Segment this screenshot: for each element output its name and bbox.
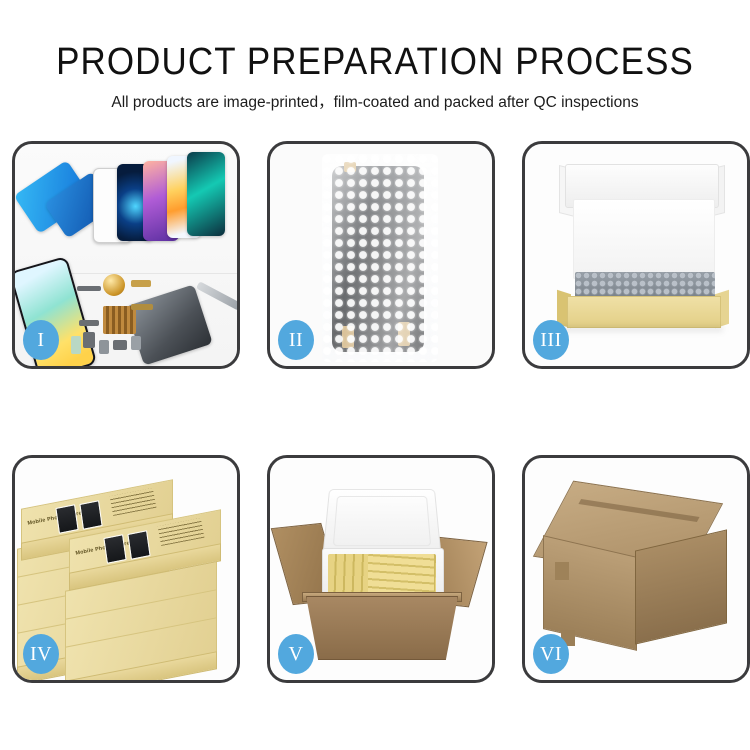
connector-chip-grid (103, 306, 136, 334)
process-step-panel-5[interactable]: V (267, 455, 495, 683)
step-badge-1: I (23, 320, 59, 360)
process-step-panel-4[interactable]: Mobile Phone Spare Parts Mobile Phone Sp… (12, 455, 240, 683)
process-step-panel-1[interactable]: I (12, 141, 240, 369)
step-badge-5: V (278, 634, 314, 674)
carton-body (306, 596, 458, 660)
part-connector (71, 336, 81, 354)
process-step-panel-2[interactable]: II (267, 141, 495, 369)
retail-box-screen-image-back-1 (55, 504, 78, 534)
process-step-panel-3[interactable]: III (522, 141, 750, 369)
retail-box-screen-image-back-2 (79, 500, 102, 530)
process-step-grid: I II III (12, 141, 738, 683)
retail-box-screen-image-front-1 (103, 534, 126, 564)
drop-shadow (563, 326, 723, 332)
part-flex-strip (131, 304, 153, 310)
phone-teal-display (187, 152, 225, 236)
foam-sheet (573, 199, 715, 279)
part-sim-tray (131, 336, 141, 350)
part-cable (83, 332, 95, 348)
foam-box-lid (323, 489, 442, 555)
step-badge-6: VI (533, 634, 569, 674)
page-header: PRODUCT PREPARATION PROCESS All products… (0, 0, 750, 112)
box-front-panel (567, 296, 721, 328)
part-speaker (77, 286, 101, 291)
carton-tape-upper (555, 562, 569, 580)
gold-component (103, 274, 125, 296)
process-step-panel-6[interactable]: VI (522, 455, 750, 683)
step-badge-4: IV (23, 634, 59, 674)
step-badge-3: III (533, 320, 569, 360)
page-subtitle: All products are image-printed，film-coat… (0, 82, 750, 112)
part-gold-flex (131, 280, 151, 287)
retail-box-screen-image-front-2 (127, 530, 150, 560)
part-button (99, 340, 109, 354)
part-bracket (79, 320, 99, 326)
page-title: PRODUCT PREPARATION PROCESS (30, 0, 720, 82)
yellow-boxes-row-2 (368, 554, 434, 594)
step-badge-2: II (278, 320, 314, 360)
plastic-sheen (322, 154, 438, 362)
part-camera (113, 340, 127, 350)
